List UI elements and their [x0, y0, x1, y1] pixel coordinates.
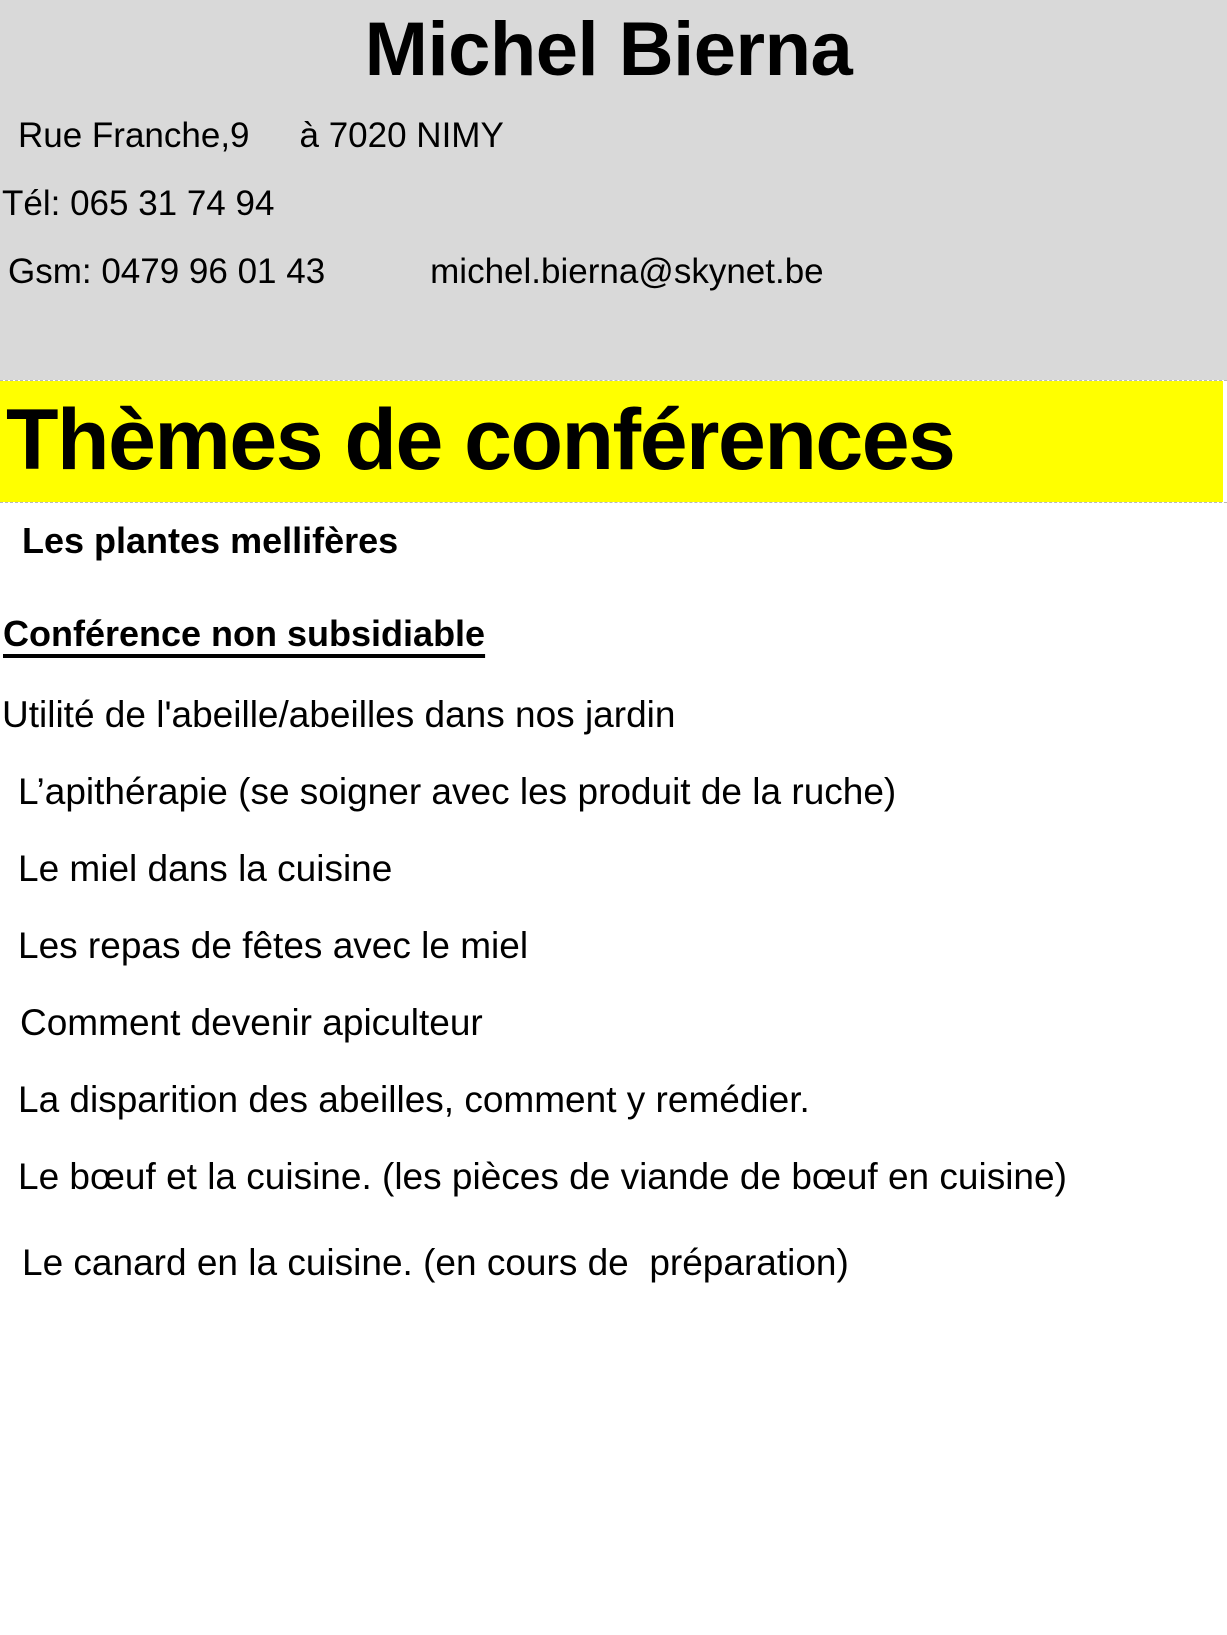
address-city: à 7020 NIMY: [300, 116, 504, 155]
conference-banner: Thèmes de conférences: [0, 380, 1227, 503]
subheading-plantes-melliferes: Les plantes mellifères: [0, 509, 1227, 559]
list-item: Les repas de fêtes avec le miel: [0, 895, 1227, 972]
address-line: Rue Franche,9à 7020 NIMY: [0, 118, 1227, 186]
contact-block: Rue Franche,9à 7020 NIMY Tél: 065 31 74 …: [0, 118, 1227, 322]
mobile-email-line: Gsm: 0479 96 01 43michel.bierna@skynet.b…: [0, 254, 1227, 322]
phone-line: Tél: 065 31 74 94: [0, 186, 1227, 254]
subheading-conference-non-subsidiable: Conférence non subsidiable: [0, 559, 485, 652]
list-item: Comment devenir apiculteur: [0, 972, 1227, 1049]
subheading-2-row: Conférence non subsidiable: [0, 559, 1227, 652]
list-item: Utilité de l'abeille/abeilles dans nos j…: [0, 652, 1227, 741]
email-address[interactable]: michel.bierna@skynet.be: [430, 252, 824, 291]
list-item: La disparition des abeilles, comment y r…: [0, 1049, 1227, 1126]
conference-topic-list: Utilité de l'abeille/abeilles dans nos j…: [0, 652, 1227, 1289]
list-item: Le miel dans la cuisine: [0, 818, 1227, 895]
topics-section: Les plantes mellifères Conférence non su…: [0, 503, 1227, 1289]
list-item: Le canard en la cuisine. (en cours de pr…: [0, 1203, 1227, 1289]
contact-header-band: Michel Bierna Rue Franche,9à 7020 NIMY T…: [0, 0, 1227, 380]
mobile-value: Gsm: 0479 96 01 43: [8, 252, 325, 291]
address-street: Rue Franche,9: [18, 116, 250, 155]
phone-value: Tél: 065 31 74 94: [2, 184, 274, 223]
list-item: Le bœuf et la cuisine. (les pièces de vi…: [18, 1126, 1227, 1203]
banner-title: Thèmes de conférences: [6, 383, 954, 498]
page-title: Michel Bierna: [0, 0, 1227, 88]
list-item: L’apithérapie (se soigner avec les produ…: [0, 741, 1227, 818]
